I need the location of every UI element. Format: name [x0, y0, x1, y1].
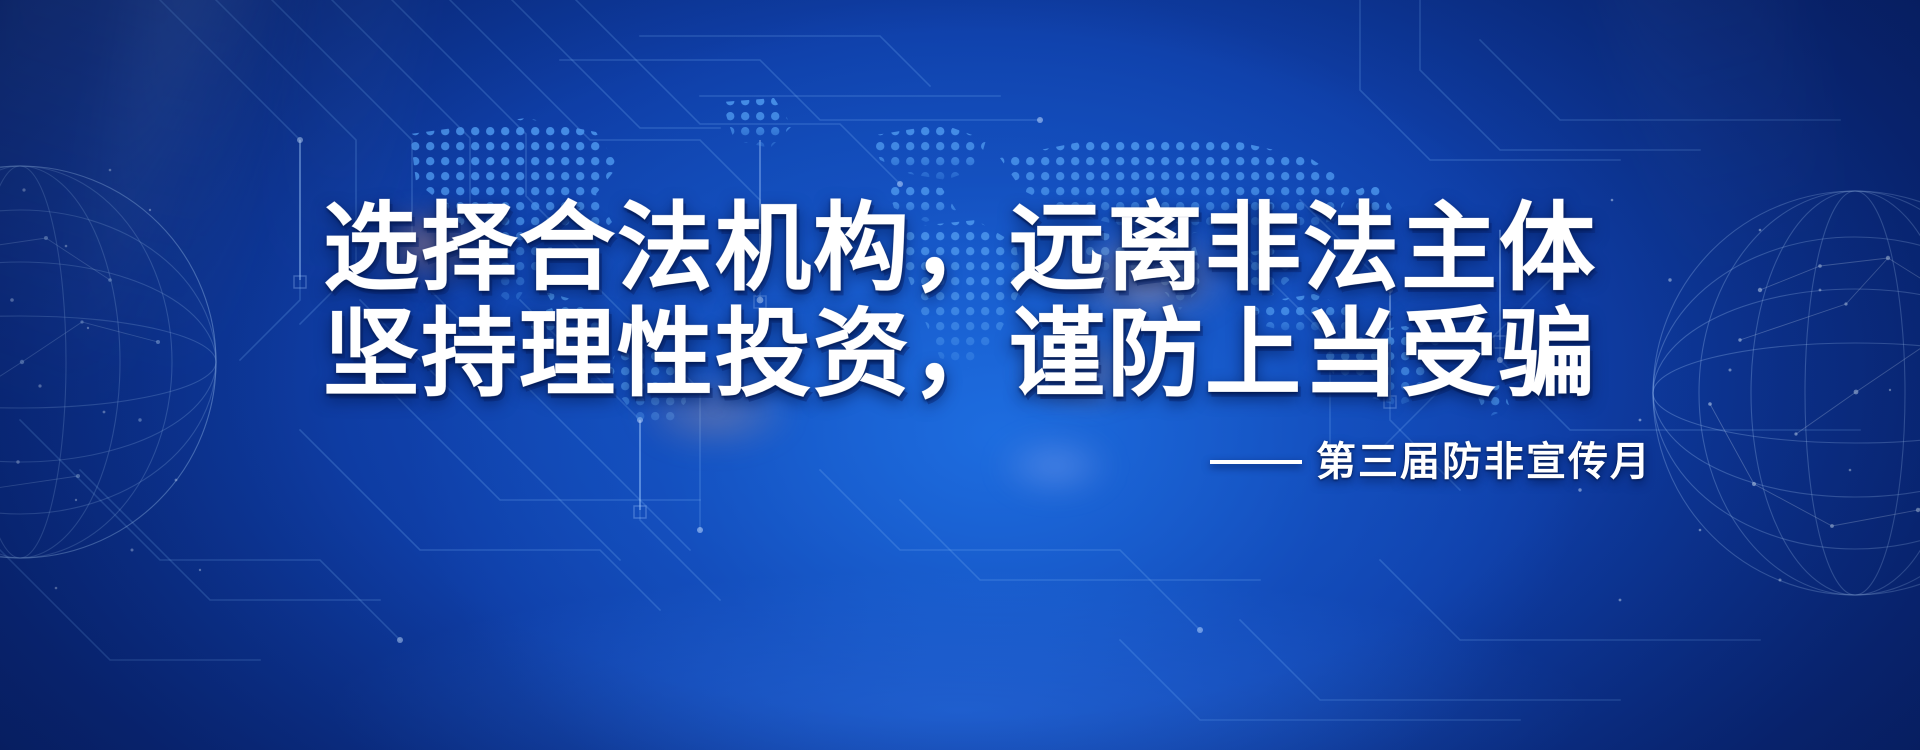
signature-text: 第三届防非宣传月	[1316, 438, 1652, 486]
headline-line-1: 选择合法机构，远离非法主体	[0, 196, 1920, 302]
lens-flare	[1000, 438, 1110, 494]
headline: 选择合法机构，远离非法主体 坚持理性投资，谨防上当受骗	[0, 196, 1920, 408]
bottom-glow	[0, 510, 1920, 750]
signature: 第三届防非宣传月	[1210, 438, 1652, 486]
signature-rule	[1210, 460, 1302, 464]
promo-banner: 选择合法机构，远离非法主体 坚持理性投资，谨防上当受骗 第三届防非宣传月	[0, 0, 1920, 750]
headline-line-2: 坚持理性投资，谨防上当受骗	[0, 302, 1920, 408]
